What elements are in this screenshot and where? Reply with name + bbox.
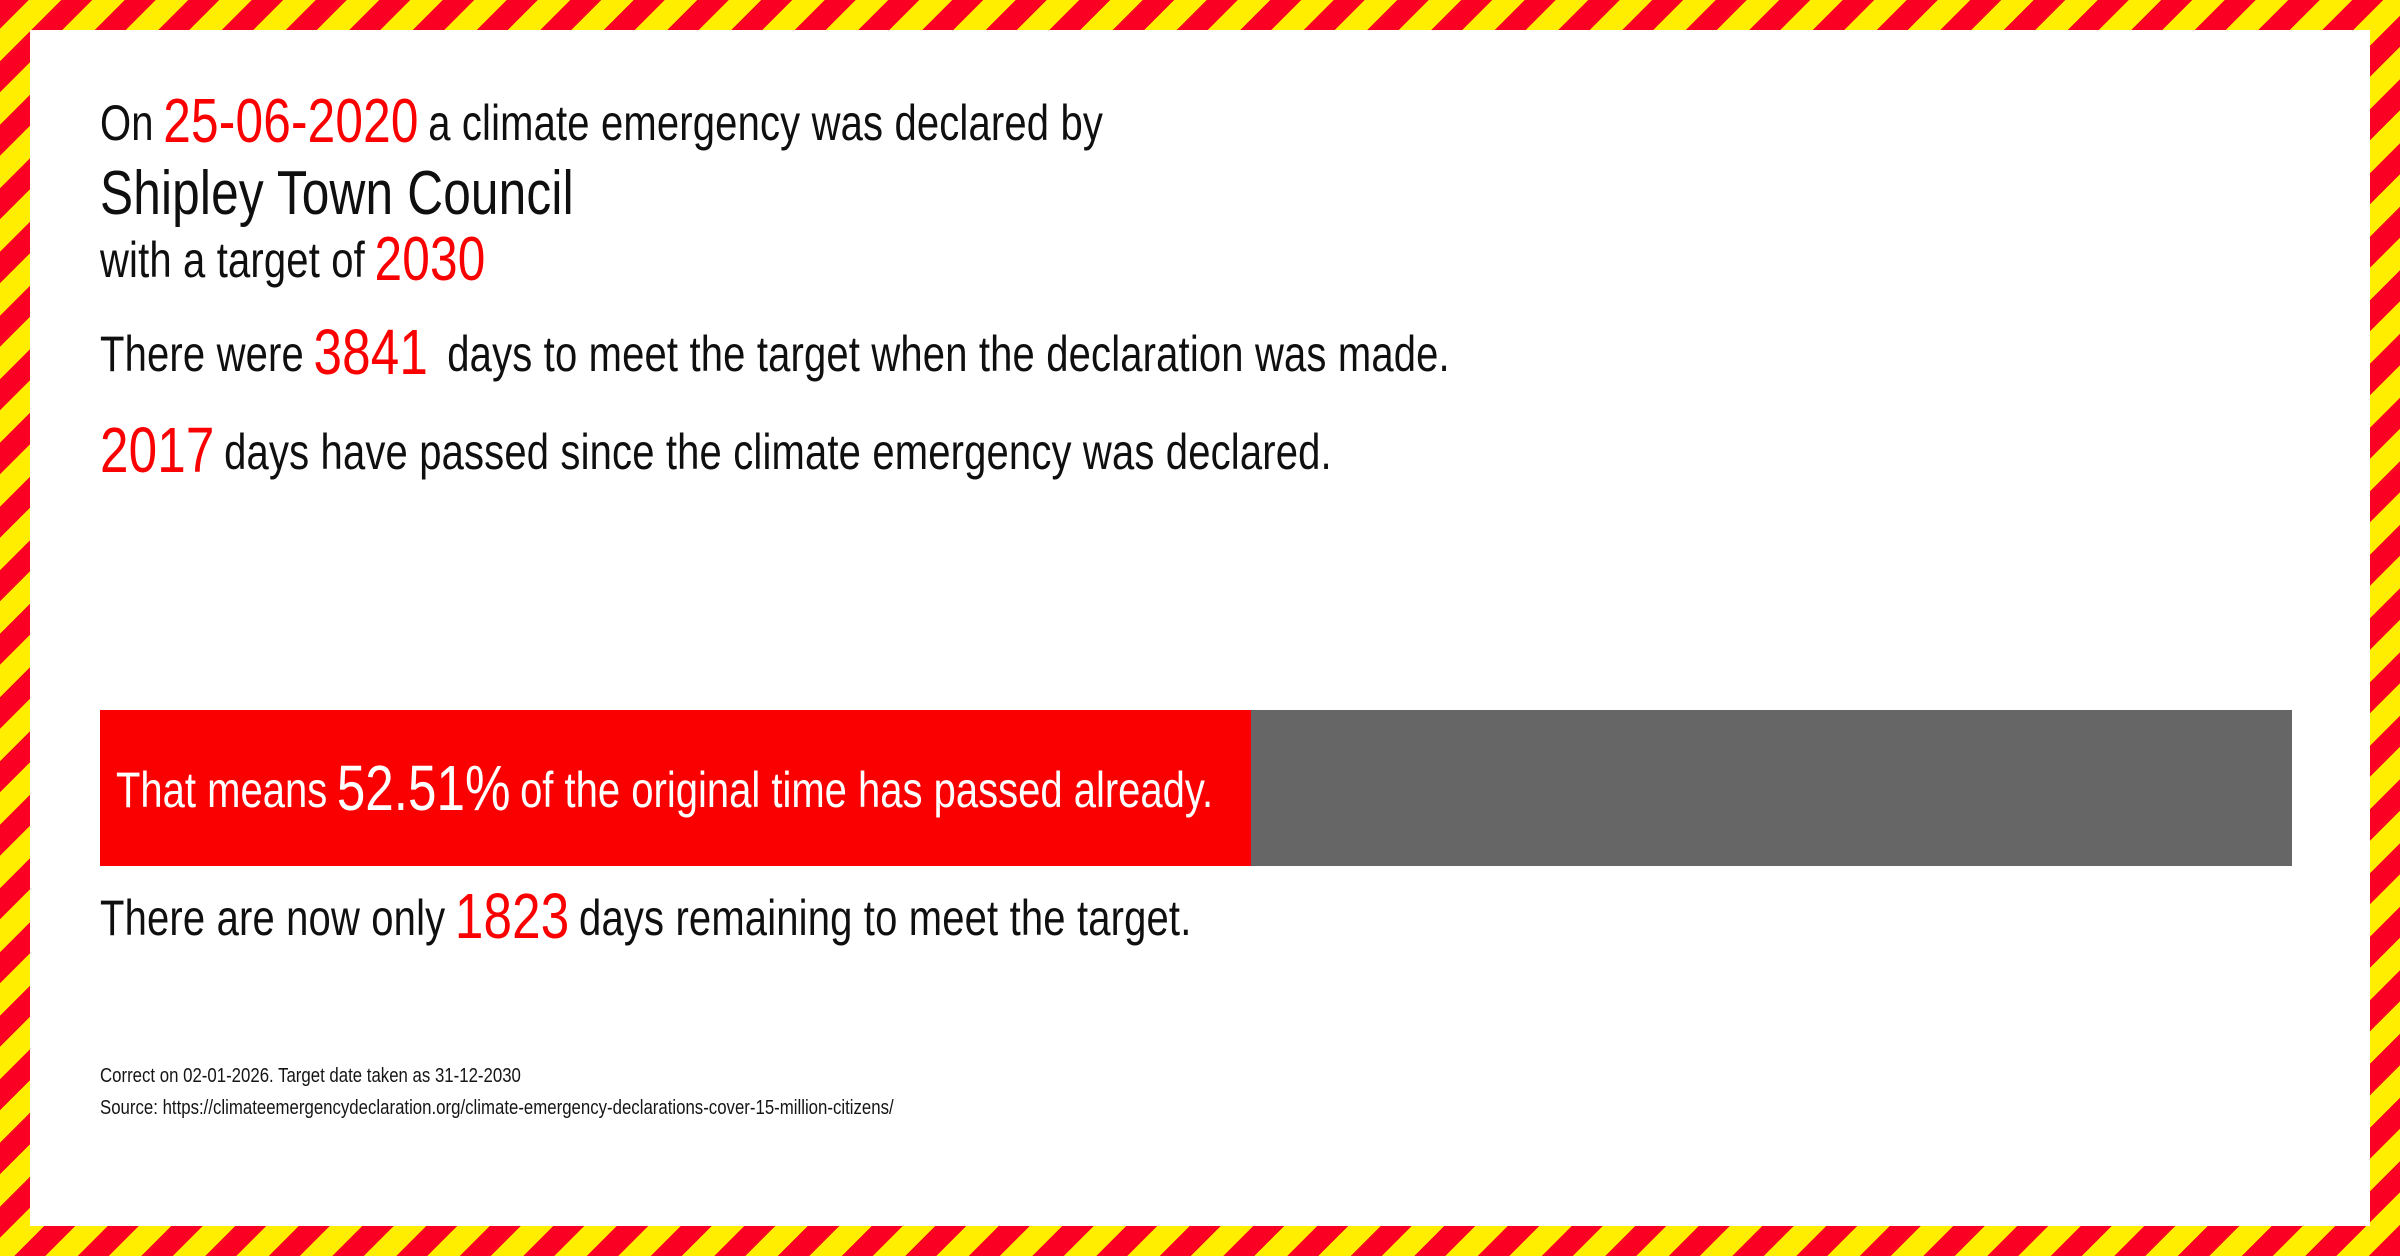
target-prefix-label: with a target of bbox=[100, 232, 365, 288]
remaining-days-suffix-label: days remaining to meet the target. bbox=[579, 890, 1191, 946]
footer-source-label: Source: https://climateemergencydeclarat… bbox=[100, 1092, 894, 1124]
original-days-prefix-label: There were bbox=[100, 326, 304, 382]
elapsed-days-suffix-label: days have passed since the climate emerg… bbox=[224, 424, 1332, 480]
target-year-line: with a target of2030 bbox=[100, 230, 486, 290]
elapsed-days-line: 2017days have passed since the climate e… bbox=[100, 420, 1332, 482]
target-year-value: 2030 bbox=[375, 225, 486, 294]
declaration-suffix-label: a climate emergency was declared by bbox=[428, 95, 1103, 151]
remaining-days-value: 1823 bbox=[455, 880, 570, 952]
declaration-prefix-label: On bbox=[100, 95, 154, 151]
declaration-date-value: 25-06-2020 bbox=[163, 87, 418, 156]
progress-prefix-label: That means bbox=[116, 762, 327, 818]
remaining-days-prefix-label: There are now only bbox=[100, 890, 445, 946]
progress-bar-label: That means52.51%of the original time has… bbox=[116, 710, 1213, 866]
time-elapsed-progress-bar: That means52.51%of the original time has… bbox=[100, 710, 2292, 866]
poster-card: On25-06-2020a climate emergency was decl… bbox=[30, 30, 2370, 1226]
progress-percent-value: 52.51% bbox=[337, 752, 511, 824]
council-name: Shipley Town Council bbox=[100, 158, 574, 230]
footer-notes: Correct on 02-01-2026. Target date taken… bbox=[100, 1060, 894, 1124]
original-days-line: There were3841days to meet the target wh… bbox=[100, 322, 1450, 384]
remaining-days-line: There are now only1823days remaining to … bbox=[100, 886, 1191, 948]
hazard-striped-poster-frame: On25-06-2020a climate emergency was decl… bbox=[0, 0, 2400, 1256]
declaration-headline: On25-06-2020a climate emergency was decl… bbox=[100, 92, 1103, 153]
footer-correct-on-label: Correct on 02-01-2026. Target date taken… bbox=[100, 1060, 894, 1092]
original-days-value: 3841 bbox=[314, 316, 429, 388]
elapsed-days-value: 2017 bbox=[100, 414, 215, 486]
original-days-suffix-label: days to meet the target when the declara… bbox=[447, 326, 1450, 382]
progress-suffix-label: of the original time has passed already. bbox=[520, 762, 1213, 818]
council-name-label: Shipley Town Council bbox=[100, 159, 574, 228]
